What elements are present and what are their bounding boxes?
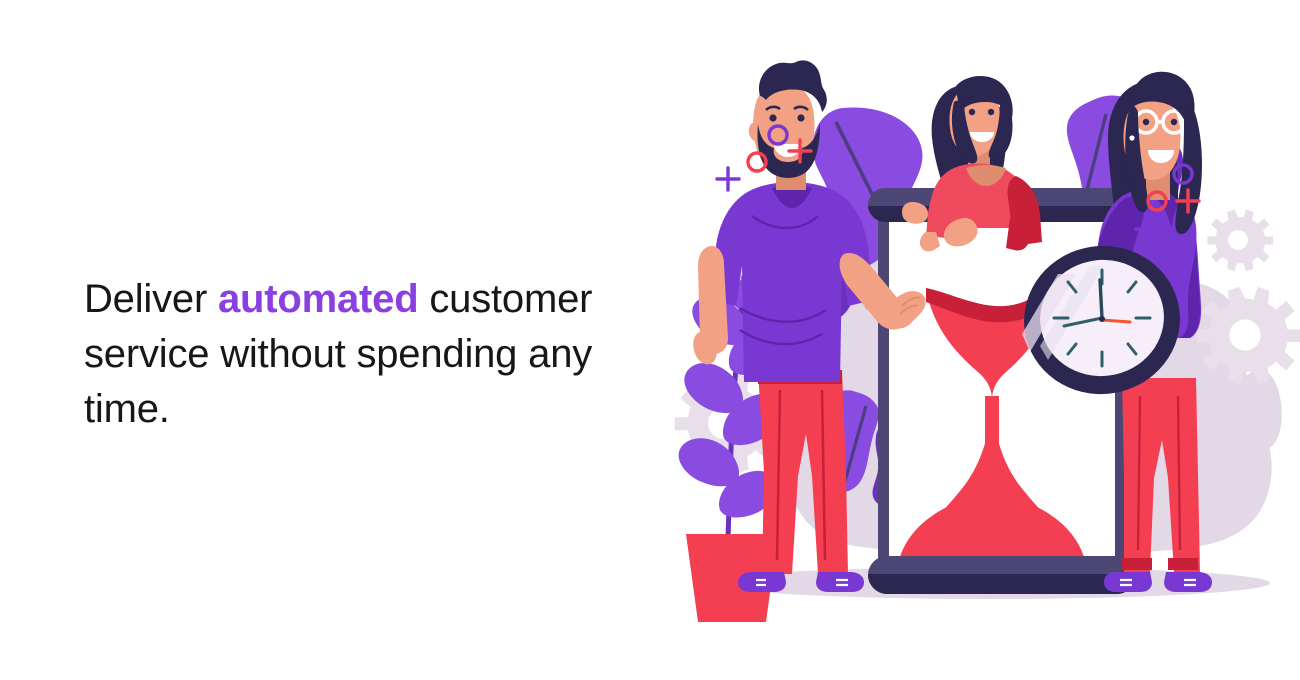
clock-second-hand: [1102, 320, 1130, 322]
gear-icon-right-small: [1207, 209, 1273, 271]
hourglass-post-left: [878, 208, 889, 570]
headline-segment-3: service without spending: [84, 332, 517, 376]
headline-accent-word: automated: [218, 277, 418, 321]
hero-page: Deliver automated customer service witho…: [0, 0, 1300, 680]
woman2-shoe-left: [1104, 572, 1152, 592]
man-shoe-right: [816, 572, 864, 592]
hourglass-scene-svg: Three people with a giant hourglass and …: [660, 40, 1300, 640]
man-eye-left: [769, 114, 776, 121]
headline-segment-1: Deliver: [84, 277, 218, 321]
hourglass-bottom-cap-shadow: [868, 574, 1136, 594]
woman-top-eye-right: [988, 109, 994, 115]
woman2-earring: [1129, 135, 1134, 140]
clock-hour-hand: [1100, 280, 1102, 318]
woman2-eye-right: [1171, 119, 1177, 125]
hero-illustration: Three people with a giant hourglass and …: [660, 40, 1300, 640]
woman2-cuff-left: [1122, 558, 1152, 570]
woman2-shoe-right: [1164, 572, 1212, 592]
woman-top-eye-left: [969, 109, 975, 115]
headline-segment-2: customer: [418, 277, 592, 321]
man-shoe-left: [738, 572, 786, 592]
woman2-eye-left: [1143, 119, 1149, 125]
headline-block: Deliver automated customer service witho…: [84, 272, 684, 437]
man-eye-right: [797, 114, 804, 121]
decor-cross-purple-left: [717, 168, 739, 190]
page-title: Deliver automated customer service witho…: [84, 272, 684, 437]
clock-center-pin: [1099, 316, 1105, 322]
woman2-cuff-right: [1168, 558, 1198, 570]
